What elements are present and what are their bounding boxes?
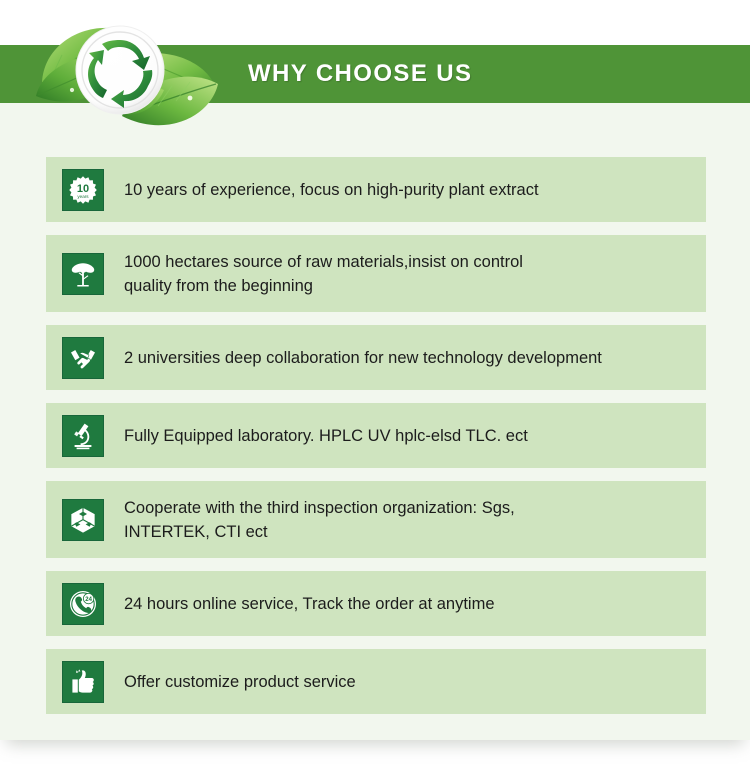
- page-title: WHY CHOOSE US: [248, 45, 472, 103]
- list-item: Fully Equipped laboratory. HPLC UV hplc-…: [46, 403, 706, 468]
- list-item-text: Cooperate with the third inspection orga…: [124, 496, 706, 544]
- list-item: 2 universities deep collaboration for ne…: [46, 325, 706, 390]
- list-item: 10 years 10 years of experience, focus o…: [46, 157, 706, 222]
- list-item-text: 24 hours online service, Track the order…: [124, 592, 706, 616]
- list-item: 1000 hectares source of raw materials,in…: [46, 235, 706, 312]
- list-item-text: 10 years of experience, focus on high-pu…: [124, 178, 706, 202]
- list-item-text: 2 universities deep collaboration for ne…: [124, 346, 706, 370]
- why-choose-us-banner: WHY CHOOSE US: [0, 0, 750, 766]
- list-item: 24 24 hours online service, Track the or…: [46, 571, 706, 636]
- list-item-text: 1000 hectares source of raw materials,in…: [124, 250, 706, 298]
- tree-icon: [62, 253, 104, 295]
- list-item-text: Fully Equipped laboratory. HPLC UV hplc-…: [124, 424, 706, 448]
- list-item: Cooperate with the third inspection orga…: [46, 481, 706, 558]
- ten-years-badge-icon: 10 years: [62, 169, 104, 211]
- list-item: Offer customize product service: [46, 649, 706, 714]
- handshake-icon: [62, 337, 104, 379]
- list-item-text: Offer customize product service: [124, 670, 706, 694]
- svg-text:24: 24: [85, 596, 92, 602]
- leaf-recycle-logo: [14, 12, 226, 140]
- thumbs-up-icon: [62, 661, 104, 703]
- cube-box-icon: [62, 499, 104, 541]
- svg-text:years: years: [77, 194, 89, 199]
- 24-hour-clock-phone-icon: 24: [62, 583, 104, 625]
- feature-list: 10 years 10 years of experience, focus o…: [46, 157, 706, 727]
- microscope-icon: [62, 415, 104, 457]
